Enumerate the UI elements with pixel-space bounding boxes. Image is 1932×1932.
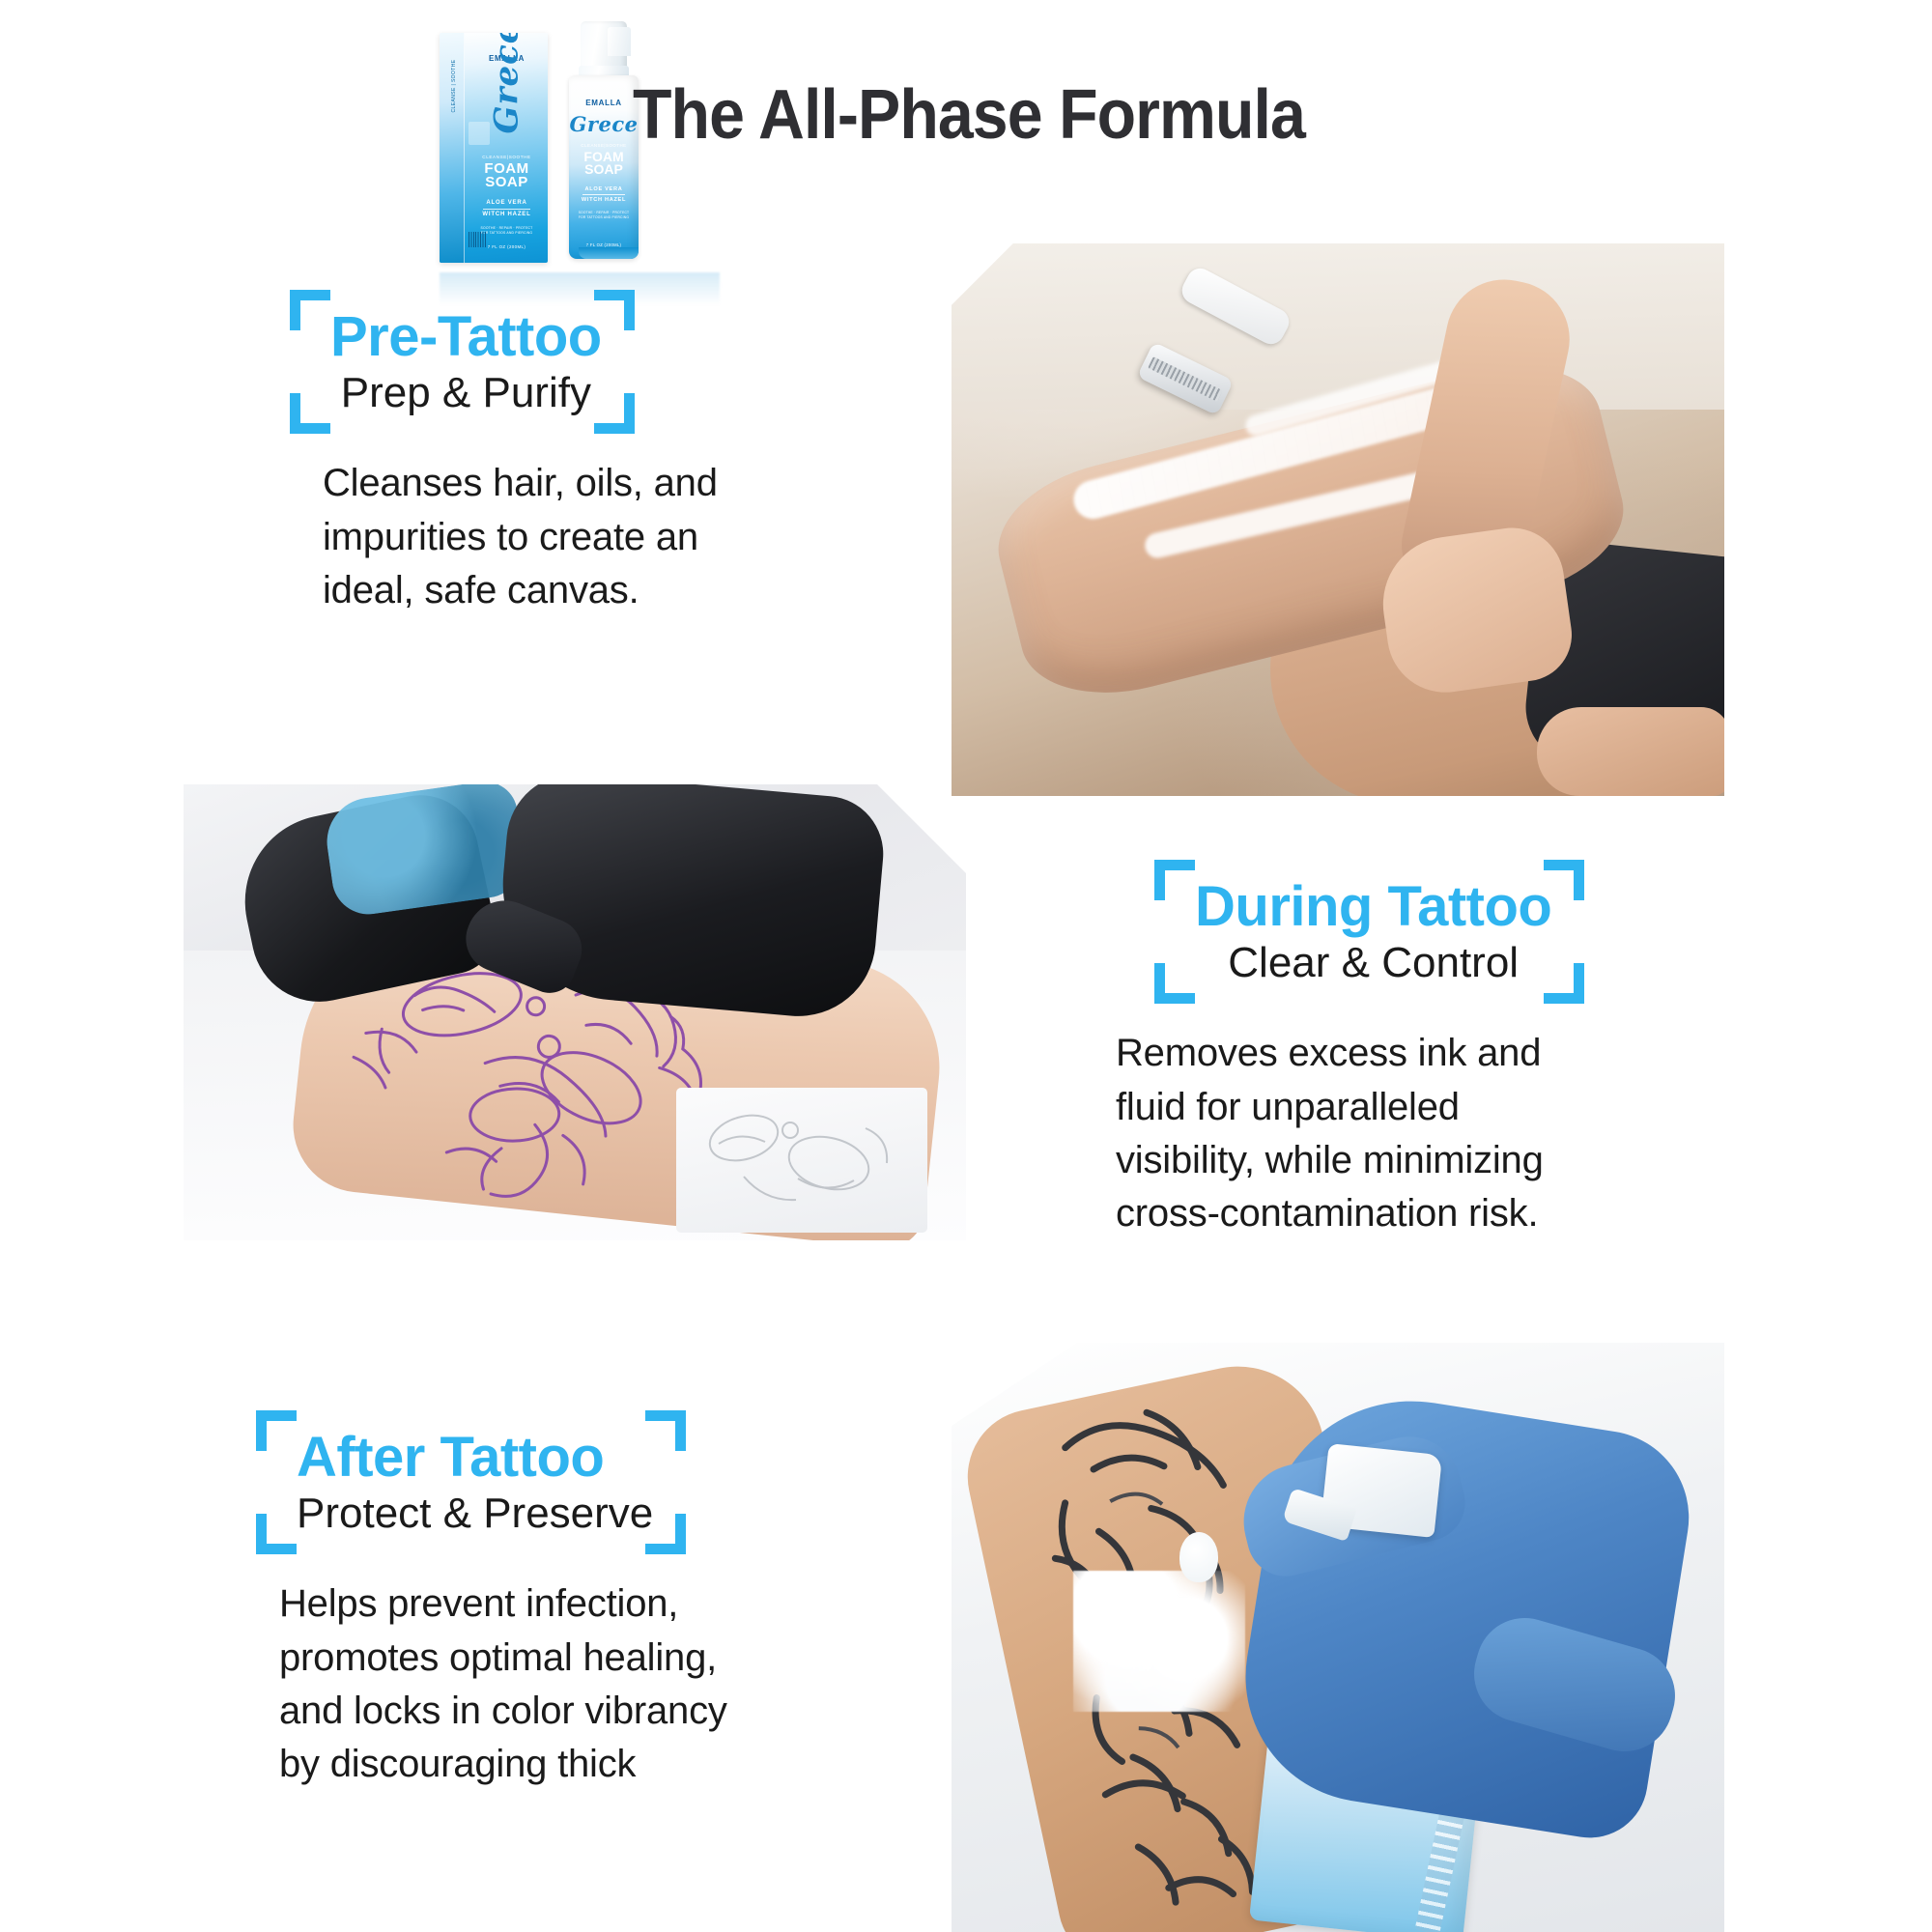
bottle-body: EMALLA Grece CLEANSE|SOOTHE FOAM SOAP AL…	[569, 75, 639, 259]
pre-tattoo-body: Cleanses hair, oils, and impurities to c…	[323, 457, 889, 617]
bottle-script-logo: Grece	[569, 112, 639, 136]
bottle-ingredient-2: WITCH HAZEL	[569, 196, 639, 204]
page-title: The All-Phase Formula	[633, 75, 1305, 155]
bracket-corner-bottom-right-icon	[1544, 963, 1584, 1004]
bracket-corner-top-right-icon	[594, 290, 635, 330]
box-ingredient-1: ALOE VERA	[466, 199, 548, 208]
photo-pre-tattoo-shaving	[952, 243, 1724, 796]
product-box: CLEANSE | SOOTHE EMALLA Grece CLEANSE|SO…	[440, 33, 548, 263]
bottle-cleanse-soothe: CLEANSE|SOOTHE	[569, 143, 639, 148]
bracket-corner-top-left-icon	[290, 290, 330, 330]
during-tattoo-subheading: Clear & Control	[1195, 938, 1551, 988]
bracket-corner-top-right-icon	[645, 1410, 686, 1451]
divider	[483, 209, 530, 210]
during-tattoo-heading: During Tattoo	[1195, 877, 1551, 936]
section-pre-tattoo: Pre-Tattoo Prep & Purify Cleanses hair, …	[290, 290, 889, 617]
photo-during-tattoo-stencil	[184, 784, 966, 1240]
bracket-corner-bottom-left-icon	[290, 393, 330, 434]
pre-tattoo-heading: Pre-Tattoo	[330, 307, 602, 366]
bottle-claims: SOOTHE · REPAIR · PROTECT FOR TATTOOS AN…	[569, 211, 639, 220]
box-script-logo: Grece	[488, 52, 526, 134]
box-ingredient-2: WITCH HAZEL	[466, 211, 548, 219]
after-tattoo-body: Helps prevent infection, promotes optima…	[279, 1577, 932, 1791]
box-name-line2: SOAP	[466, 176, 548, 189]
bracket-corner-bottom-left-icon	[1154, 963, 1195, 1004]
box-cleanse-soothe: CLEANSE|SOOTHE	[466, 155, 548, 159]
bottle-brand: EMALLA	[569, 99, 639, 107]
bottle-claim-2: FOR TATTOOS AND PIERCING	[569, 215, 639, 220]
bracket-corner-bottom-right-icon	[645, 1514, 686, 1554]
box-front-face: EMALLA Grece CLEANSE|SOOTHE FOAM SOAP AL…	[466, 33, 548, 263]
barcode-icon	[469, 232, 486, 247]
photo-after-tattoo-foam: EMALLADO IT ALL WITH ONE Grece CLEANSE|S…	[952, 1343, 1724, 1932]
bracket-corner-bottom-left-icon	[256, 1514, 297, 1554]
photo3-foam-droplet	[1179, 1532, 1218, 1582]
bottle-ingredient-1: ALOE VERA	[569, 185, 639, 193]
bracket-corner-top-left-icon	[1154, 860, 1195, 900]
bracket-corner-bottom-right-icon	[594, 393, 635, 434]
photo1-floor	[952, 243, 1724, 410]
after-tattoo-subheading: Protect & Preserve	[297, 1489, 653, 1539]
photo3-foam-lather	[1073, 1571, 1245, 1712]
box-product-name: FOAM SOAP	[466, 162, 548, 190]
photo1-feet	[1537, 707, 1724, 796]
bracket-corner-top-left-icon	[256, 1410, 297, 1451]
box-ingredients: ALOE VERA WITCH HAZEL	[466, 199, 548, 219]
pump-nozzle-icon	[608, 27, 631, 56]
pre-tattoo-heading-group: Pre-Tattoo Prep & Purify	[290, 290, 635, 434]
after-tattoo-heading: After Tattoo	[297, 1428, 653, 1487]
box-ingredient-swatch	[469, 122, 490, 145]
section-during-tattoo: During Tattoo Clear & Control Removes ex…	[1096, 860, 1753, 1240]
bottle-cap	[581, 21, 627, 70]
section-after-tattoo: After Tattoo Protect & Preserve Helps pr…	[256, 1410, 932, 1791]
box-side-panel: CLEANSE | SOOTHE	[440, 33, 465, 263]
bottle-name-line2: SOAP	[569, 163, 639, 176]
during-tattoo-body: Removes excess ink and fluid for unparal…	[1116, 1027, 1753, 1240]
divider	[582, 194, 625, 195]
bottle-base	[579, 247, 639, 259]
after-tattoo-heading-group: After Tattoo Protect & Preserve	[256, 1410, 686, 1554]
bottle-ingredients: ALOE VERA WITCH HAZEL	[569, 185, 639, 205]
infographic-page: CLEANSE | SOOTHE EMALLA Grece CLEANSE|SO…	[0, 0, 1932, 1932]
photo2-stencil-paper	[676, 1088, 927, 1233]
pre-tattoo-subheading: Prep & Purify	[330, 368, 602, 418]
during-tattoo-heading-group: During Tattoo Clear & Control	[1154, 860, 1584, 1004]
box-side-text: CLEANSE | SOOTHE	[451, 52, 457, 120]
bracket-corner-top-right-icon	[1544, 860, 1584, 900]
bottle-product-name: FOAM SOAP	[569, 151, 639, 177]
